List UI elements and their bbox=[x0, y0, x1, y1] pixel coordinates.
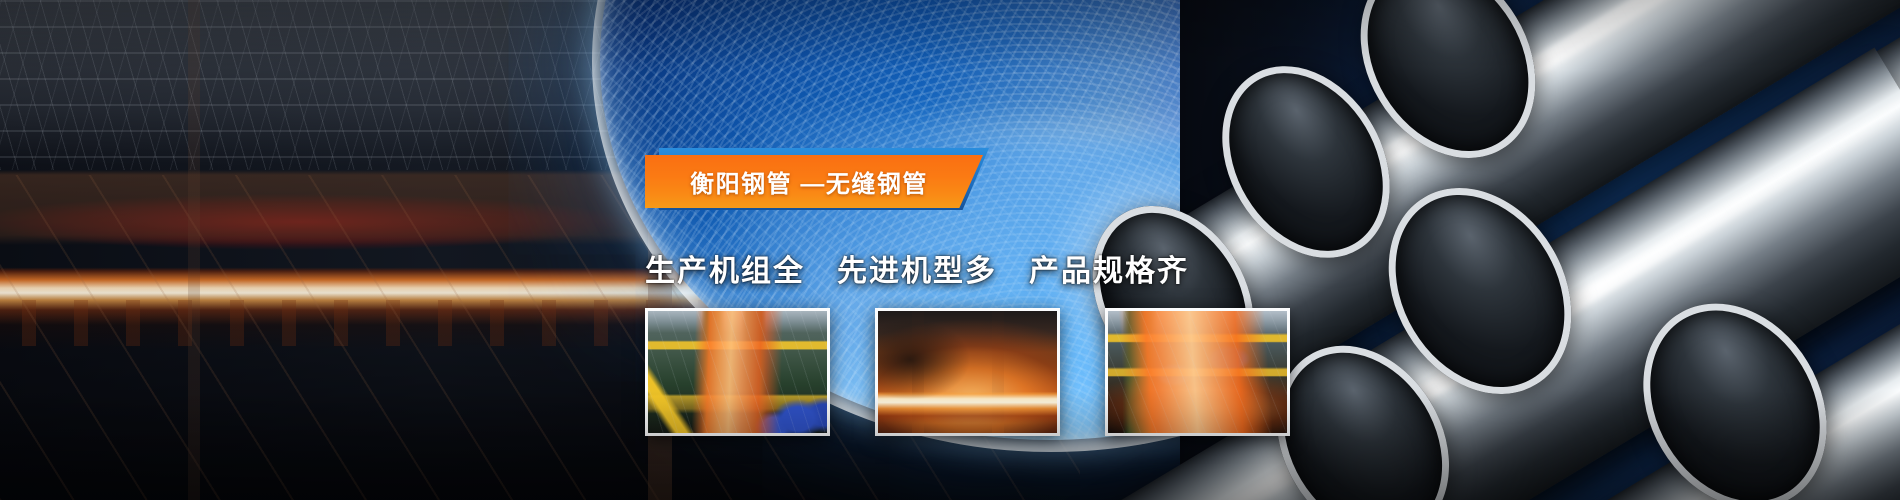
badge-orange-plate: 衡阳钢管 —无缝钢管 bbox=[645, 155, 983, 208]
thumbnail-seamless-pipe-rolling-mill[interactable] bbox=[645, 308, 830, 436]
subtitle: 生产机组全 先进机型多 产品规格齐 bbox=[645, 246, 1265, 290]
thumbnail-hot-steel-billet-furnace[interactable] bbox=[875, 308, 1060, 436]
badge: 衡阳钢管 —无缝钢管 bbox=[645, 148, 1005, 216]
badge-label: 衡阳钢管 —无缝钢管 bbox=[690, 164, 938, 199]
thumbnail-row bbox=[645, 308, 1290, 436]
subtitle-text: 生产机组全 先进机型多 产品规格齐 bbox=[645, 246, 1189, 290]
hero-banner: 衡阳钢管 —无缝钢管 生产机组全 先进机型多 产品规格齐 bbox=[0, 0, 1900, 500]
thumbnail-steel-mill-hot-rod-line[interactable] bbox=[1105, 308, 1290, 436]
